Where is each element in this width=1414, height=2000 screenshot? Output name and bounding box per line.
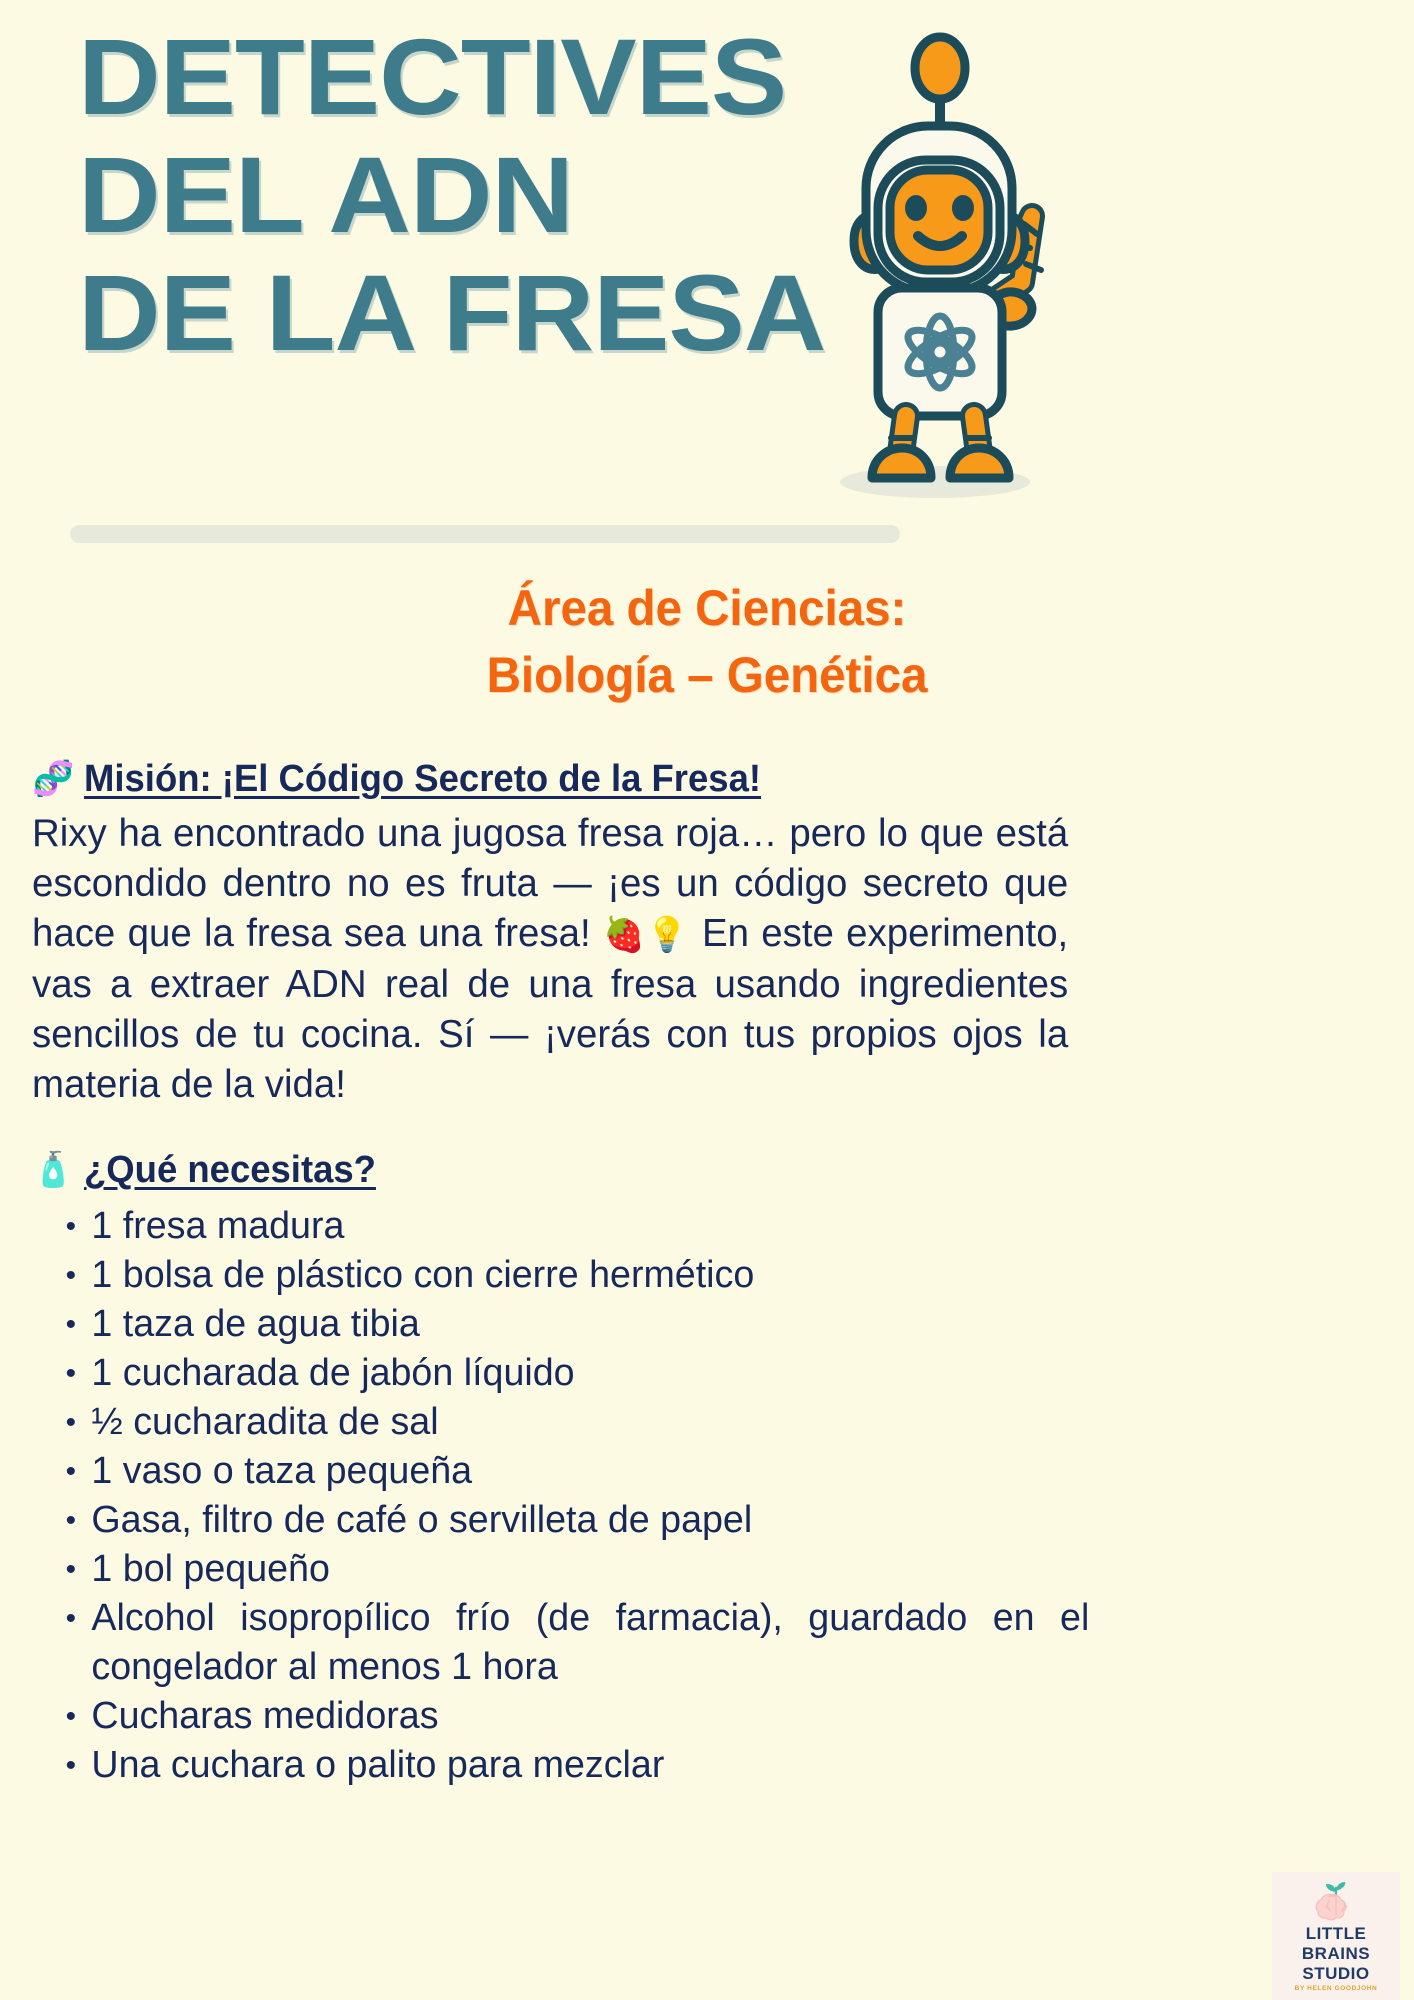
soap-dispenser-icon: 🧴 <box>32 1153 74 1187</box>
list-item: Gasa, filtro de café o servilleta de pap… <box>32 1496 1089 1545</box>
mission-heading-label: Misión: ¡El Código Secreto de la Fresa! <box>84 755 761 803</box>
list-item: 1 vaso o taza pequeña <box>32 1447 1089 1496</box>
list-item: Cucharas medidoras <box>32 1692 1089 1741</box>
logo-line-3: STUDIO <box>1302 1965 1369 1982</box>
list-item: 1 bol pequeño <box>32 1545 1089 1594</box>
list-item: 1 cucharada de jabón líquido <box>32 1349 1089 1398</box>
content-body: 🧬 Misión: ¡El Código Secreto de la Fresa… <box>32 755 1382 1790</box>
list-item: Alcohol isopropílico frío (de farmacia),… <box>32 1594 1089 1692</box>
brain-sprout-icon <box>1314 1882 1358 1922</box>
subject-subtitle: Área de Ciencias: Biología – Genética <box>0 575 1414 709</box>
list-item: 1 bolsa de plástico con cierre hermético <box>32 1251 1089 1300</box>
needs-heading: 🧴 ¿Qué necesitas? <box>32 1146 1382 1194</box>
header: DETECTIVES DEL ADN DE LA FRESA <box>0 0 1414 560</box>
logo-line-2: BRAINS <box>1302 1945 1370 1962</box>
strawberry-bulb-icon: 🍓💡 <box>603 915 690 955</box>
list-item: 1 fresa madura <box>32 1202 1089 1251</box>
subtitle-line-1: Área de Ciencias: <box>35 575 1378 642</box>
subtitle-line-2: Biología – Genética <box>35 642 1378 709</box>
mission-heading: 🧬 Misión: ¡El Código Secreto de la Fresa… <box>32 755 1382 803</box>
dna-icon: 🧬 <box>32 762 74 796</box>
materials-list: 1 fresa madura 1 bolsa de plástico con c… <box>32 1202 1100 1790</box>
list-item: 1 taza de agua tibia <box>32 1300 1089 1349</box>
logo-byline: BY HELEN GOODJOHN <box>1295 1985 1378 1992</box>
list-item: ½ cucharadita de sal <box>32 1398 1089 1447</box>
needs-heading-label: ¿Qué necesitas? <box>84 1146 376 1194</box>
list-item: Una cuchara o palito para mezclar <box>32 1741 1089 1790</box>
logo-line-1: LITTLE <box>1306 1925 1367 1942</box>
worksheet-page: DETECTIVES DEL ADN DE LA FRESA <box>0 0 1414 2000</box>
mission-paragraph: Rixy ha encontrado una jugosa fresa roja… <box>32 809 1068 1110</box>
brand-logo: LITTLE BRAINS STUDIO BY HELEN GOODJOHN <box>1272 1872 1400 2000</box>
robot-mascot-icon <box>760 30 1070 530</box>
